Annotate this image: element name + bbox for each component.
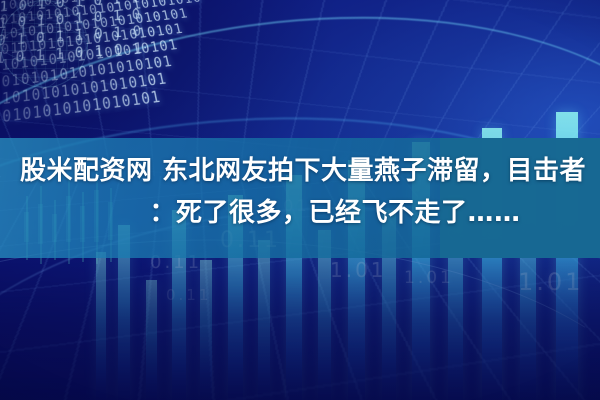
vignette: [0, 0, 600, 400]
thumbnail-image: 1010101010101010101010010101010101010101…: [0, 0, 600, 400]
